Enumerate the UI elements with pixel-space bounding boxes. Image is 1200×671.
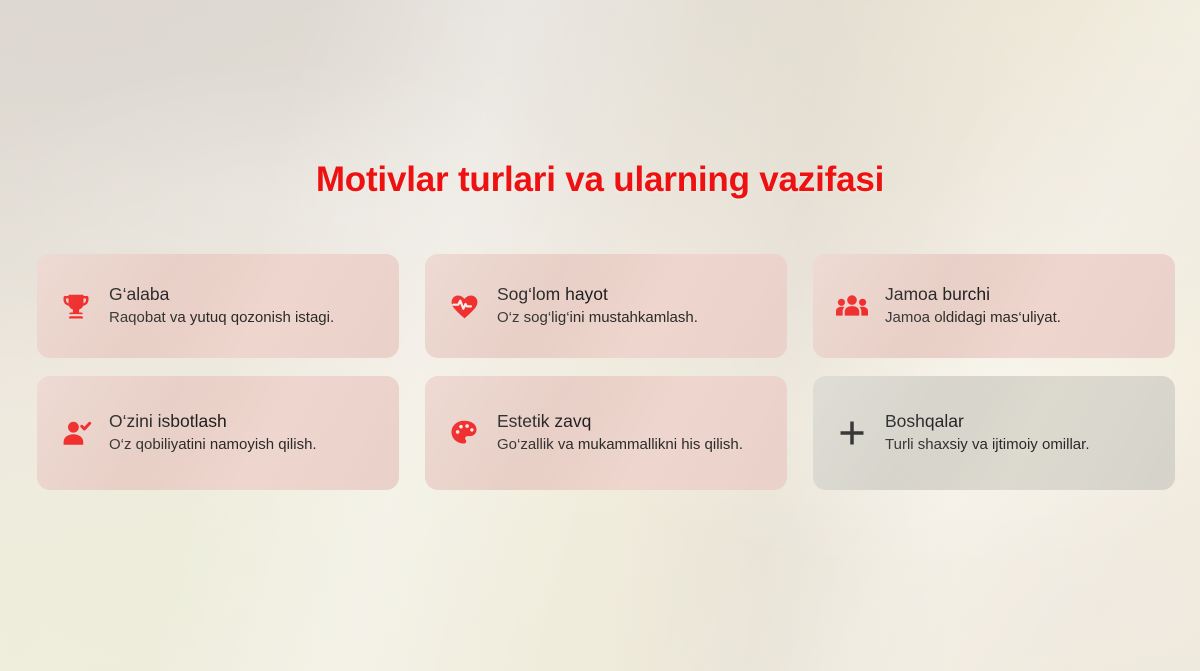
- motive-card-jamoa-burchi[interactable]: Jamoa burchi Jamoa oldidagi mas‘uliyat.: [813, 254, 1175, 358]
- card-title: Sog‘lom hayot: [497, 283, 698, 305]
- card-description: Go‘zallik va mukammallikni his qilish.: [497, 435, 743, 456]
- motive-card-galaba[interactable]: G‘alaba Raqobat va yutuq qozonish istagi…: [37, 254, 399, 358]
- card-text: Sog‘lom hayot O‘z sog‘lig‘ini mustahkaml…: [497, 283, 698, 328]
- card-title: Estetik zavq: [497, 410, 743, 432]
- card-description: Turli shaxsiy va ijtimoiy omillar.: [885, 435, 1090, 456]
- motive-card-grid: G‘alaba Raqobat va yutuq qozonish istagi…: [37, 254, 1163, 490]
- plus-icon: [829, 410, 875, 456]
- person-check-icon: [53, 410, 99, 456]
- palette-icon: [441, 410, 487, 456]
- card-title: Jamoa burchi: [885, 283, 1061, 305]
- motive-card-ozini-isbotlash[interactable]: O‘zini isbotlash O‘z qobiliyatini namoyi…: [37, 376, 399, 490]
- card-description: O‘z sog‘lig‘ini mustahkamlash.: [497, 308, 698, 329]
- card-text: G‘alaba Raqobat va yutuq qozonish istagi…: [109, 283, 334, 328]
- page-title: Motivlar turlari va ularning vazifasi: [0, 160, 1200, 200]
- card-description: O‘z qobiliyatini namoyish qilish.: [109, 435, 317, 456]
- people-group-icon: [829, 283, 875, 329]
- card-text: Boshqalar Turli shaxsiy va ijtimoiy omil…: [885, 410, 1090, 455]
- card-title: G‘alaba: [109, 283, 334, 305]
- card-description: Raqobat va yutuq qozonish istagi.: [109, 308, 334, 329]
- motive-card-estetik-zavq[interactable]: Estetik zavq Go‘zallik va mukammallikni …: [425, 376, 787, 490]
- card-description: Jamoa oldidagi mas‘uliyat.: [885, 308, 1061, 329]
- card-text: Jamoa burchi Jamoa oldidagi mas‘uliyat.: [885, 283, 1061, 328]
- card-text: O‘zini isbotlash O‘z qobiliyatini namoyi…: [109, 410, 317, 455]
- slide-canvas: Motivlar turlari va ularning vazifasi G‘…: [0, 0, 1200, 671]
- card-title: Boshqalar: [885, 410, 1090, 432]
- card-text: Estetik zavq Go‘zallik va mukammallikni …: [497, 410, 743, 455]
- motive-card-boshqalar[interactable]: Boshqalar Turli shaxsiy va ijtimoiy omil…: [813, 376, 1175, 490]
- heart-pulse-icon: [441, 283, 487, 329]
- card-title: O‘zini isbotlash: [109, 410, 317, 432]
- trophy-icon: [53, 283, 99, 329]
- motive-card-soglom-hayot[interactable]: Sog‘lom hayot O‘z sog‘lig‘ini mustahkaml…: [425, 254, 787, 358]
